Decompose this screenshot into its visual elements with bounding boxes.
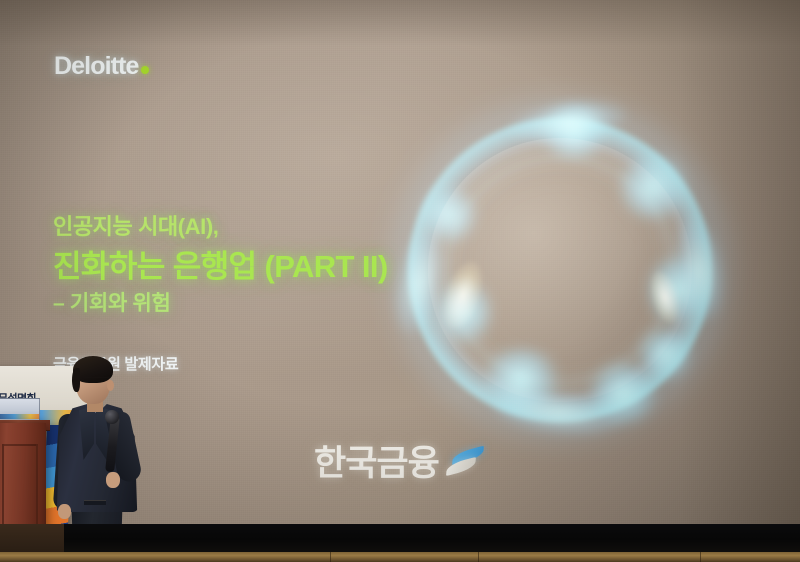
glasses-icon — [77, 377, 109, 385]
floor-seam — [478, 552, 479, 562]
deloitte-logo: Deloitte — [54, 52, 149, 81]
hanguk-geumyung-logo: 한국금융 — [314, 446, 484, 481]
swoosh-icon — [444, 447, 484, 481]
podium-monitor — [0, 398, 40, 422]
slide-title-line2: 진화하는 은행업 (PART II) — [53, 250, 388, 283]
microphone-head — [105, 410, 119, 424]
slide-title-line1: 인공지능 시대(AI), — [53, 214, 388, 241]
podium-monitor-stripe — [0, 414, 40, 419]
blue-plasma-orb-graphic — [390, 100, 730, 440]
orb-flare — [536, 106, 612, 158]
presenter-left-hand — [58, 504, 71, 519]
screen-top-shadow — [0, 0, 800, 46]
wooden-floor — [0, 552, 800, 562]
deloitte-logo-dot — [141, 66, 149, 74]
presenter-right-hand — [106, 472, 120, 488]
floor-seam — [330, 552, 331, 562]
floor-seam — [700, 552, 701, 562]
presenter-belt — [84, 500, 106, 505]
orb-flare — [638, 326, 692, 382]
slide-title-line3: – 기회와 위험 — [53, 291, 388, 316]
deloitte-logo-text: Deloitte — [54, 52, 138, 81]
hanguk-geumyung-logo-text: 한국금융 — [314, 446, 439, 481]
slide-title-block: 인공지능 시대(AI), 진화하는 은행업 (PART II) – 기회와 위험 — [53, 214, 388, 316]
orb-flare — [420, 186, 478, 244]
orb-flare — [478, 348, 564, 414]
stage-front-edge — [0, 524, 800, 552]
presentation-photo: Deloitte 인공지능 시대(AI), 진 — [0, 0, 800, 562]
orb-flare — [616, 154, 690, 220]
